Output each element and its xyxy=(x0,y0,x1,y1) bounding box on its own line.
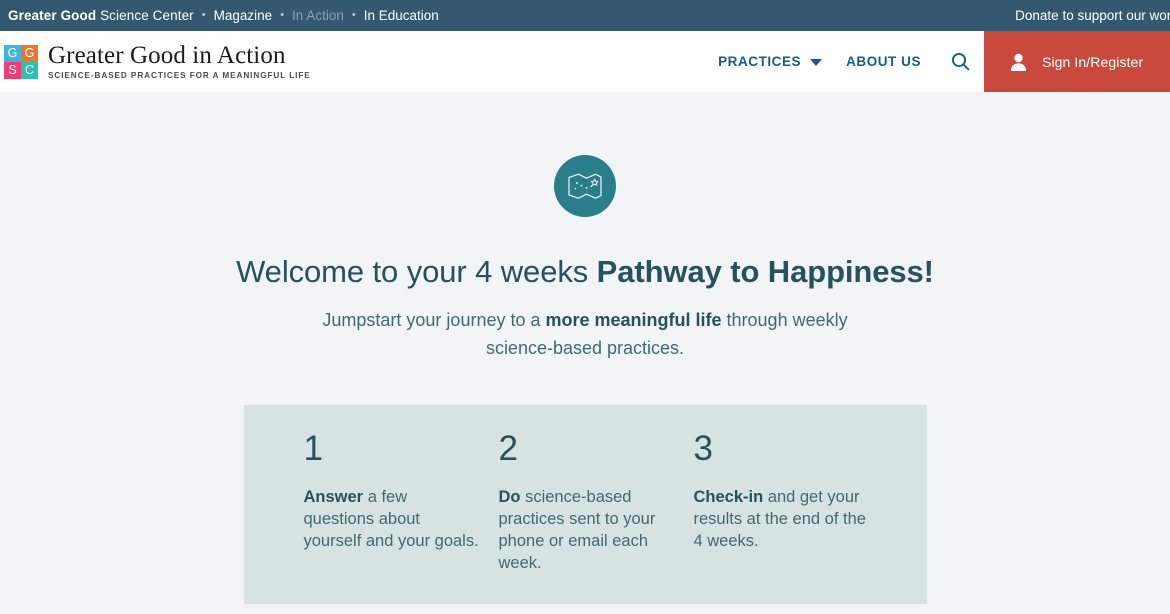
step-lead-word: Do xyxy=(499,488,521,506)
logo-title: Greater Good in Action xyxy=(48,43,311,70)
top-utility-nav: Greater Good Science Center • Magazine •… xyxy=(8,8,439,23)
ggsc-logo-mark: G G S C xyxy=(4,45,38,79)
user-icon xyxy=(1010,53,1027,71)
nav-item-practices[interactable]: PRACTICES xyxy=(706,54,834,69)
step-number: 2 xyxy=(499,431,676,466)
steps-panel: 1 Answer a few questions about yourself … xyxy=(244,405,927,604)
separator-dot: • xyxy=(272,9,292,21)
step-description: Do science-based practices sent to your … xyxy=(499,486,676,574)
page-subtitle-part1: Jumpstart your journey to a xyxy=(322,310,545,330)
step-number: 1 xyxy=(304,431,481,466)
logo-cell-g2: G xyxy=(21,45,38,62)
topbar-item-in-education[interactable]: In Education xyxy=(364,8,439,23)
sign-in-register-button[interactable]: Sign In/Register xyxy=(984,31,1170,92)
page-subtitle: Jumpstart your journey to a more meaning… xyxy=(305,306,865,362)
site-header: G G S C Greater Good in Action SCIENCE-B… xyxy=(0,31,1170,92)
step-number: 3 xyxy=(694,431,871,466)
topbar-item-in-action[interactable]: In Action xyxy=(292,8,344,23)
topbar-item-magazine[interactable]: Magazine xyxy=(214,8,273,23)
step-lead-word: Answer xyxy=(304,488,364,506)
logo-wordmark: Greater Good in Action SCIENCE-BASED PRA… xyxy=(38,43,311,81)
search-icon xyxy=(951,52,970,71)
brand-bold-text: Greater Good xyxy=(8,8,96,23)
logo-tagline: SCIENCE-BASED PRACTICES FOR A MEANINGFUL… xyxy=(48,71,311,80)
nav-item-practices-label: PRACTICES xyxy=(718,54,801,69)
primary-nav: PRACTICES ABOUT US xyxy=(706,31,984,92)
step-description: Check-in and get your results at the end… xyxy=(694,486,871,552)
donate-link[interactable]: Donate to support our work xyxy=(1015,0,1170,31)
logo-cell-c: C xyxy=(21,62,38,79)
step-lead-word: Check-in xyxy=(694,488,764,506)
page-title: Welcome to your 4 weeks Pathway to Happi… xyxy=(236,255,934,289)
step-item: 1 Answer a few questions about yourself … xyxy=(304,431,499,604)
chevron-down-icon xyxy=(810,59,822,66)
page-title-regular: Welcome to your 4 weeks xyxy=(236,254,597,289)
step-rest-text: science-based practices sent to your pho… xyxy=(499,488,656,572)
sign-in-register-label: Sign In/Register xyxy=(1027,54,1143,70)
separator-dot: • xyxy=(194,9,214,21)
pathway-map-badge xyxy=(554,155,616,217)
gg-science-center-link[interactable]: Greater Good Science Center xyxy=(8,8,194,23)
page-content: Welcome to your 4 weeks Pathway to Happi… xyxy=(0,92,1170,614)
logo-cell-g1: G xyxy=(4,45,21,62)
page-title-bold: Pathway to Happiness! xyxy=(597,254,934,289)
nav-item-about-us[interactable]: ABOUT US xyxy=(834,54,933,69)
map-icon xyxy=(567,172,603,200)
site-logo[interactable]: G G S C Greater Good in Action SCIENCE-B… xyxy=(0,43,311,81)
logo-cell-s: S xyxy=(4,62,21,79)
brand-rest-text: Science Center xyxy=(96,8,194,23)
step-item: 3 Check-in and get your results at the e… xyxy=(694,431,889,604)
nav-item-about-us-label: ABOUT US xyxy=(846,54,921,69)
search-button[interactable] xyxy=(933,52,984,71)
separator-dot: • xyxy=(344,9,364,21)
top-utility-bar: Greater Good Science Center • Magazine •… xyxy=(0,0,1170,31)
step-description: Answer a few questions about yourself an… xyxy=(304,486,481,552)
step-item: 2 Do science-based practices sent to you… xyxy=(499,431,694,604)
page-subtitle-bold: more meaningful life xyxy=(546,310,722,330)
